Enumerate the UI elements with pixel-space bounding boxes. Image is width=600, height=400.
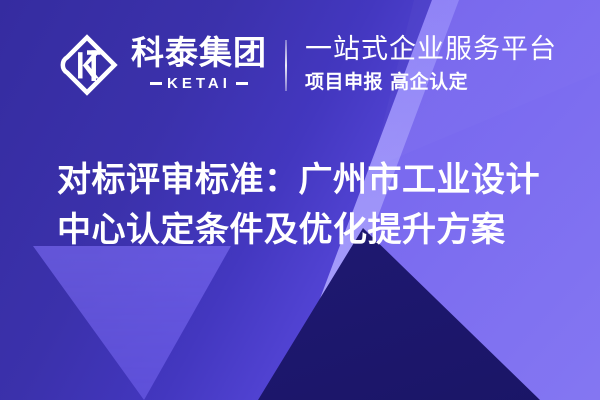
- logo-rule-right-icon: [236, 82, 248, 85]
- banner-header: 科泰集团 KETAI 一站式企业服务平台 项目申报 高企认定: [0, 0, 600, 130]
- logo-wordmark: 科泰集团 KETAI: [131, 36, 267, 94]
- logo-rule-left-icon: [150, 82, 162, 85]
- logo-english-name: KETAI: [167, 73, 231, 94]
- tagline-sub-text: 项目申报 高企认定: [305, 70, 557, 96]
- header-tagline: 一站式企业服务平台 项目申报 高企认定: [305, 34, 557, 95]
- header-vertical-divider: [285, 40, 287, 91]
- promo-banner: 科泰集团 KETAI 一站式企业服务平台 项目申报 高企认定 对标评审标准：广州…: [0, 0, 600, 400]
- tagline-main-text: 一站式企业服务平台: [305, 34, 557, 66]
- logo-english-name-row: KETAI: [150, 73, 248, 94]
- brand-logo[interactable]: 科泰集团 KETAI: [55, 33, 267, 97]
- logo-chinese-name: 科泰集团: [131, 36, 267, 71]
- ketai-diamond-kt-logo-icon: [55, 33, 119, 97]
- page-title: 对标评审标准：广州市工业设计中心认定条件及优化提升方案: [57, 155, 562, 255]
